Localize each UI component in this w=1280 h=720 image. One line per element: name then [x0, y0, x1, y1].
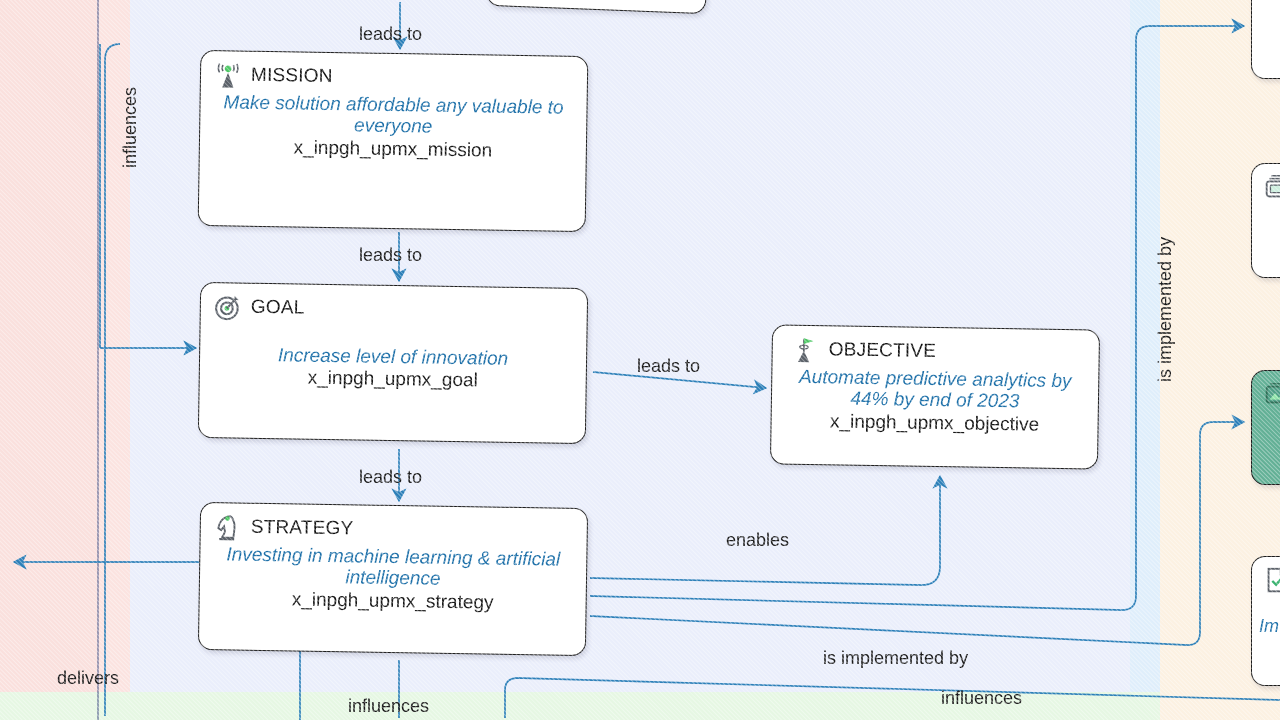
node-right-2-header: [1252, 164, 1280, 202]
node-right-3-header: [1252, 371, 1280, 409]
edge-label-mission-leads-to: leads to: [359, 24, 422, 45]
node-right-4-description-fragment: Im: [1259, 616, 1279, 637]
card-stack-icon: [1262, 172, 1280, 202]
chess-knight-icon: [213, 512, 243, 542]
node-right-partial-3[interactable]: [1251, 370, 1280, 485]
node-mission-id: x_inpgh_upmx_mission: [200, 135, 586, 164]
node-objective-header: OBJECTIVE: [772, 325, 1099, 369]
node-mission-type: MISSION: [251, 65, 333, 88]
node-goal-type: GOAL: [251, 297, 305, 320]
edge-label-delivers: delivers: [57, 668, 119, 689]
node-mission-header: MISSION: [201, 51, 588, 96]
edge-label-influences-bottom-right: influences: [941, 688, 1022, 709]
node-objective[interactable]: OBJECTIVE Automate predictive analytics …: [770, 324, 1100, 469]
edge-label-influences-bottom: influences: [348, 696, 429, 717]
edge-label-goal-to-objective: leads to: [637, 356, 700, 377]
image-card-icon: [1262, 379, 1280, 409]
broadcast-tower-icon: [213, 60, 243, 90]
node-objective-type: OBJECTIVE: [829, 339, 937, 363]
edge-bottom-influences: [505, 678, 1280, 718]
node-objective-id: x_inpgh_upmx_objective: [771, 409, 1097, 437]
flag-goal-icon: [790, 335, 820, 365]
edge-label-enables: enables: [726, 530, 789, 551]
edge-influences-riser: [105, 44, 120, 716]
node-objective-description: Automate predictive analytics by 44% by …: [772, 364, 1099, 414]
pin-circle-icon: [1262, 0, 1280, 3]
edge-label-is-implemented-by-right: is implemented by: [1155, 237, 1176, 382]
edge-strategy-implemented-by-right: [590, 26, 1244, 610]
edge-label-goal-leads-to: leads to: [359, 245, 422, 266]
node-goal-header: GOAL: [201, 283, 588, 328]
node-strategy-description: Investing in machine learning & artifici…: [200, 542, 587, 593]
node-strategy[interactable]: STRATEGY Investing in machine learning &…: [198, 502, 588, 656]
document-check-icon: [1262, 565, 1280, 595]
node-goal-id: x_inpgh_upmx_goal: [200, 365, 586, 394]
node-right-1-header: [1252, 0, 1280, 3]
node-strategy-header: STRATEGY: [201, 503, 588, 548]
edge-label-influences-left: influences: [120, 87, 141, 168]
node-right-partial-2[interactable]: [1251, 163, 1280, 278]
node-strategy-type: STRATEGY: [251, 517, 354, 541]
node-mission[interactable]: MISSION Make solution affordable any val…: [198, 50, 589, 232]
node-right-partial-1[interactable]: [1251, 0, 1280, 79]
node-mission-description: Make solution affordable any valuable to…: [200, 90, 587, 141]
edge-label-strategy-leads-to: leads to: [359, 467, 422, 488]
node-strategy-id: x_inpgh_upmx_strategy: [199, 586, 585, 615]
diagram-canvas: MISSION Make solution affordable any val…: [0, 0, 1280, 720]
node-goal[interactable]: GOAL Increase level of innovation x_inpg…: [198, 282, 588, 444]
node-right-4-header: [1252, 557, 1280, 595]
edge-label-is-implemented-by-bottom: is implemented by: [823, 648, 968, 669]
node-goal-description: Increase level of innovation: [200, 322, 587, 371]
target-icon: [213, 292, 243, 322]
